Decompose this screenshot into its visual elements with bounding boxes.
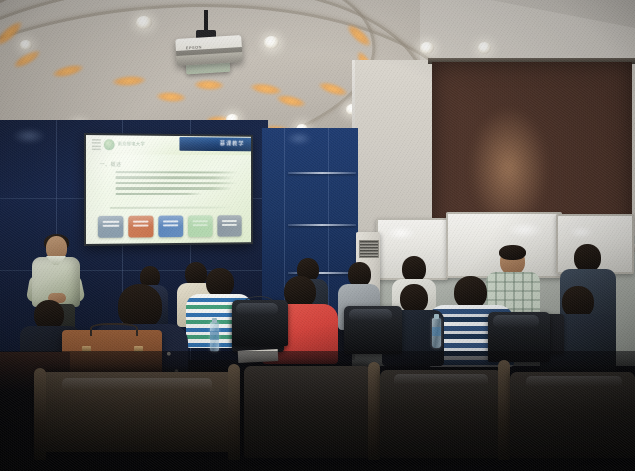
whiteboard-glare [506, 222, 544, 238]
projector-body: EPSON [175, 35, 243, 66]
slide-body-text [116, 171, 238, 198]
foreground-seat-armrest [34, 368, 46, 460]
wall-metal-strip [288, 224, 356, 226]
attendee-hair [499, 245, 526, 260]
attendee-head [574, 244, 601, 272]
slide-box-1-label [103, 221, 119, 229]
projection-screen-frame: 南京邮电大学 慕课教学 一、概述 [84, 133, 253, 246]
slide-box-4-label [193, 220, 208, 228]
foreground-seat-center [244, 366, 372, 458]
slide-logo-bars-icon [92, 139, 101, 150]
projector-brand-label: EPSON [186, 45, 202, 50]
ceiling-downlight [264, 36, 279, 49]
foreground-seat-left [40, 372, 236, 452]
slide-box-5-label [222, 220, 237, 228]
water-bottle-right [432, 318, 441, 348]
ceiling-downlight [478, 42, 491, 54]
wall-metal-strip [288, 172, 356, 174]
seat-highlight [526, 376, 622, 390]
briefcase-handle [90, 323, 138, 336]
seat-highlight [62, 378, 212, 394]
foreground-seat-armrest [228, 364, 240, 460]
attendee-head [118, 284, 162, 328]
foreground-seat-armrest [498, 360, 510, 460]
seat-back-row2-a [232, 300, 288, 346]
foreground-seat-right [380, 370, 502, 458]
slide-bullet-heading: 一、概述 [100, 161, 122, 168]
slide-box-2 [128, 216, 154, 238]
slide-title-text: 慕课教学 [220, 139, 245, 147]
photo-lecture-hall: EPSON [0, 0, 635, 471]
ceiling-downlight [420, 42, 434, 54]
slide-box-4 [188, 215, 213, 237]
air-conditioner-vent [359, 240, 379, 258]
seat-highlight [394, 374, 488, 388]
ceiling-downlight [20, 40, 32, 50]
slide-box-3 [158, 215, 183, 237]
ceiling-downlight [136, 16, 152, 29]
foreground-seat-armrest [368, 362, 380, 460]
whiteboard-glare [386, 226, 416, 240]
slide-caption-line [110, 206, 235, 209]
seat-back-row2-b [344, 306, 402, 354]
panel-reflection [12, 128, 46, 144]
slide-box-2-label [133, 221, 149, 229]
university-logo-icon [104, 139, 115, 150]
panel-reflection [286, 132, 312, 145]
whiteboard-glare [568, 226, 594, 238]
projection-screen: 南京邮电大学 慕课教学 一、概述 [86, 135, 251, 244]
slide-box-1 [98, 216, 124, 238]
slide-box-3-label [163, 220, 179, 228]
attendee-head [400, 284, 428, 313]
slide-box-row [98, 215, 242, 238]
slide-logo-text: 南京邮电大学 [118, 141, 145, 147]
slide-box-5 [217, 215, 242, 237]
water-bottle-center [210, 322, 219, 352]
foreground-seat-far-right [510, 372, 635, 458]
attendee-head [206, 268, 234, 297]
window-daylight-glow [470, 108, 548, 228]
